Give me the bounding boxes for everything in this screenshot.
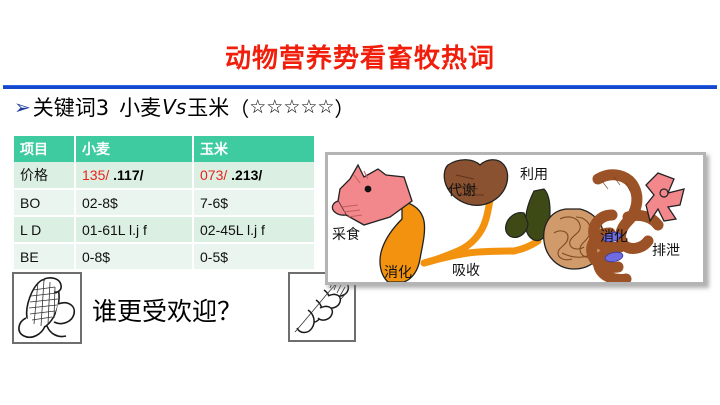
corn-image-frame [12, 272, 82, 344]
table-header-corn: 玉米 [194, 136, 314, 162]
rating-open-paren: （ [229, 93, 249, 122]
intestine-connector [424, 251, 514, 263]
comparison-table: 项目 小麦 玉米 价格 135/ .117/ 073/ .213/ BO 02-… [14, 136, 314, 271]
table-row: BE 0-8$ 0-5$ [14, 244, 314, 271]
table-row: L D 01-61L l.j f 02-45L l.j f [14, 217, 314, 244]
pig-head-shape [332, 165, 412, 225]
cell-wheat-be: 0-8$ [76, 244, 194, 271]
label-digestion-intestine: 消化 [600, 229, 628, 245]
table-header-row: 项目 小麦 玉米 [14, 136, 314, 162]
cell-corn-price-black: .213/ [231, 167, 262, 183]
excretion-shape [646, 173, 684, 221]
label-excretion: 排泄 [652, 243, 680, 259]
cell-wheat-ld: 01-61L l.j f [76, 217, 194, 244]
cell-item-ld: L D [14, 217, 76, 244]
table-header-item: 项目 [14, 136, 76, 162]
pig-eye-icon [365, 186, 372, 193]
table-row: 价格 135/ .117/ 073/ .213/ [14, 162, 314, 190]
cell-corn-bo: 7-6$ [194, 190, 314, 217]
cell-corn-be: 0-5$ [194, 244, 314, 271]
cell-item-bo: BO [14, 190, 76, 217]
title-divider-highlight [3, 85, 717, 86]
cell-wheat-price: 135/ .117/ [76, 162, 194, 190]
label-utilization: 利用 [520, 167, 548, 183]
cell-item-be: BE [14, 244, 76, 271]
cell-corn-ld: 02-45L l.j f [194, 217, 314, 244]
cell-corn-price-red: 073/ [200, 167, 227, 183]
digestive-system-illustration: 采食 消化 代谢 吸收 利用 消化 排泄 [328, 155, 703, 282]
question-text: 谁更受欢迎？ [92, 292, 242, 328]
rating-close-paren: ） [334, 93, 354, 122]
subject-left-label: 小麦 [119, 92, 161, 122]
table-header-wheat: 小麦 [76, 136, 194, 162]
table-row: BO 02-8$ 7-6$ [14, 190, 314, 217]
subject-right-label: 玉米 [187, 92, 229, 122]
keyword-heading: ➢ 关键词3 小麦 Vs 玉米 （ ☆☆☆☆☆ ） [14, 92, 354, 122]
cell-corn-price: 073/ .213/ [194, 162, 314, 190]
label-absorption: 吸收 [452, 263, 480, 279]
label-intake: 采食 [332, 226, 360, 243]
page-title: 动物营养势看畜牧热词 [0, 38, 720, 75]
label-metabolism: 代谢 [448, 183, 476, 199]
cell-item-price: 价格 [14, 162, 76, 190]
label-digestion-stomach: 消化 [384, 265, 412, 281]
digestive-diagram-frame: 采食 消化 代谢 吸收 利用 消化 排泄 [325, 152, 706, 285]
rating-stars: ☆☆☆☆☆ [249, 96, 334, 118]
cell-wheat-price-black: .117/ [113, 167, 143, 183]
vs-label: Vs [161, 95, 187, 119]
bullet-arrow-icon: ➢ [14, 97, 31, 117]
cell-wheat-price-red: 135/ [82, 167, 109, 183]
keyword-label: 关键词3 [33, 92, 109, 122]
slide-canvas: 动物营养势看畜牧热词 ➢ 关键词3 小麦 Vs 玉米 （ ☆☆☆☆☆ ） 项目 … [0, 0, 720, 405]
corn-cob-icon [14, 274, 80, 342]
cell-wheat-bo: 02-8$ [76, 190, 194, 217]
